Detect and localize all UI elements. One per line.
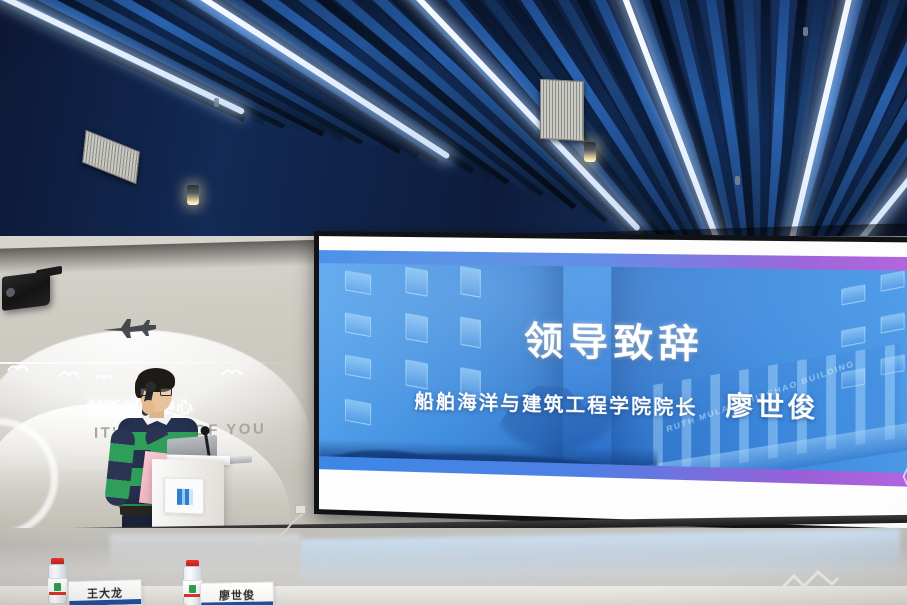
seagull-silhouette-icon [58,368,80,380]
ceiling [0,0,907,258]
sprinkler-icon [214,98,219,107]
downlight-icon [187,185,199,205]
seagull-silhouette-icon [7,362,29,374]
airplane-silhouette-icon [101,317,157,339]
bottle-label [48,578,67,595]
name-card: 廖世俊 [200,581,274,605]
wall-seam [0,362,300,364]
window [841,284,865,305]
downlight-icon [584,142,596,162]
window [405,267,427,297]
seagull-silhouette-icon [221,366,243,378]
slide-speaker-name: 廖世俊 [725,391,818,424]
window [881,270,905,291]
projection-screen[interactable]: RUTH MULAN CHU CHAO BUILDING 〈 领导致辞 船舶海洋… [319,236,907,529]
power-cable [258,512,304,548]
presenter-hand [142,400,155,414]
sprinkler-icon [735,176,740,185]
paper-scrap [778,568,840,598]
air-vent-icon [540,79,584,141]
institution-logo-icon [177,489,193,505]
name-card-strip [69,599,141,605]
window [460,266,480,298]
name-card-strip [201,601,273,605]
chevron-left-icon: 〈 [895,462,907,487]
water-bottle [48,558,67,604]
projection-screen-frame: RUTH MULAN CHU CHAO BUILDING 〈 领导致辞 船舶海洋… [314,231,907,535]
slide-speaker-role: 船舶海洋与建筑工程学院院长 [415,390,698,419]
window [345,270,371,295]
sprinkler-icon [803,27,808,36]
wall-speaker-icon [2,271,50,311]
podium-logo-plaque [164,477,204,514]
name-card: 王大龙 [68,579,143,605]
presentation-slide: RUTH MULAN CHU CHAO BUILDING 〈 领导致辞 船舶海洋… [319,250,907,487]
conference-hall-photo: 创新创业中心 IT'SE OF YOU [0,0,907,605]
